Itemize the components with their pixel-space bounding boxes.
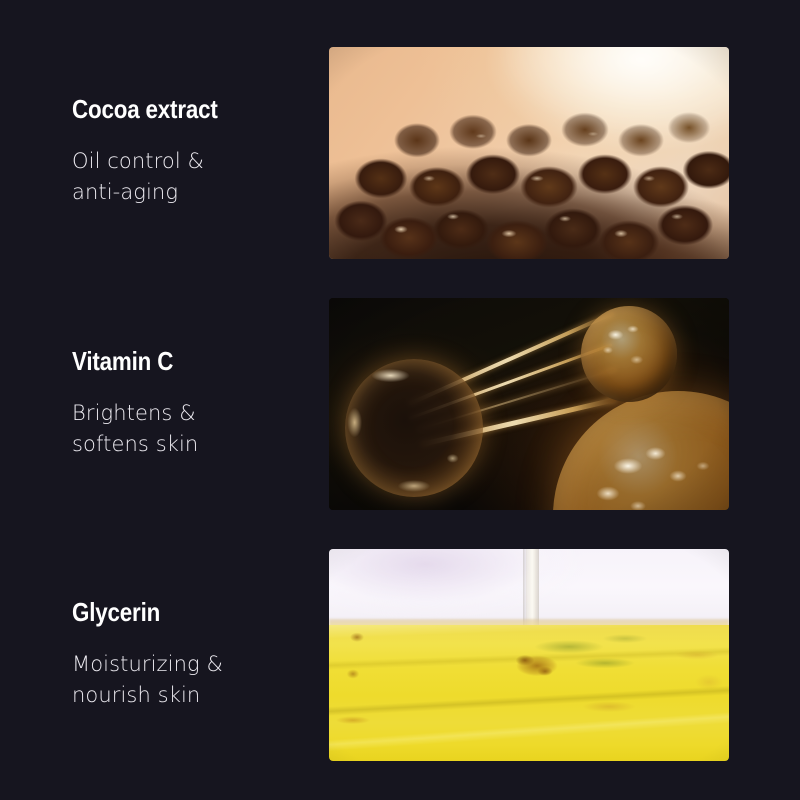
ingredient-benefit-glycerin: Moisturizing & nourish skin [72,649,272,711]
ingredient-benefit-vitamin-c: Brightens & softens skin [72,398,272,460]
oil-photo-vignette [329,549,729,761]
ingredient-text-vitamin-c: Vitamin C Brightens & softens skin [72,298,312,510]
vitamin-c-bubbles-photo [329,298,729,510]
ingredient-title-glycerin: Glycerin [72,597,278,627]
ingredient-row-glycerin: Glycerin Moisturizing & nourish skin [0,549,800,761]
ingredient-benefit-cocoa-extract: Oil control & anti-aging [72,146,272,208]
ingredient-row-vitamin-c: Vitamin C Brightens & softens skin [0,298,800,510]
cocoa-beans-photo [329,47,729,259]
ingredient-text-cocoa-extract: Cocoa extract Oil control & anti-aging [72,47,312,259]
bubbles-photo-vignette [329,298,729,510]
ingredient-benefits-board: Cocoa extract Oil control & anti-aging V… [0,0,800,800]
ingredient-title-vitamin-c: Vitamin C [72,346,278,376]
ingredient-text-glycerin: Glycerin Moisturizing & nourish skin [72,549,312,761]
ingredient-row-cocoa-extract: Cocoa extract Oil control & anti-aging [0,47,800,259]
cocoa-photo-vignette [329,47,729,259]
glycerin-oil-photo [329,549,729,761]
ingredient-title-cocoa-extract: Cocoa extract [72,94,278,124]
